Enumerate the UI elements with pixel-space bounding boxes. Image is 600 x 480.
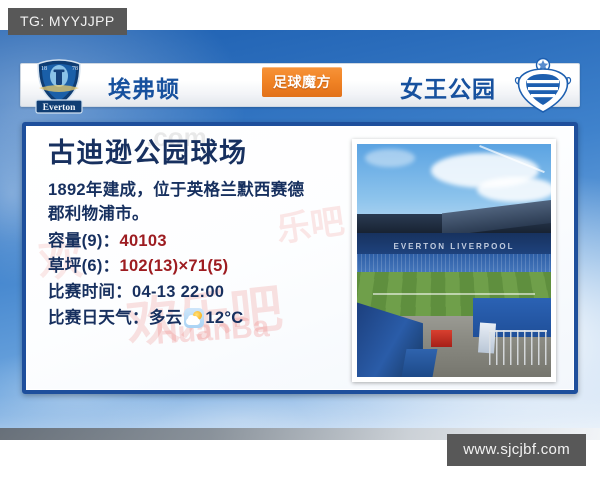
match-time-label: 比赛时间：	[48, 280, 132, 306]
stadium-photo: EVERTON LIVERPOOL	[357, 144, 551, 377]
pitch-row: 草坪(6)： 102(13)×71(5)	[48, 254, 338, 280]
match-time-row: 比赛时间： 04-13 22:00	[48, 280, 338, 306]
capacity-row: 容量(9)： 40103	[48, 229, 338, 255]
qpr-crest	[512, 56, 574, 118]
away-team-name: 女王公园	[400, 70, 496, 104]
team-header: 18 78 Everton 埃弗顿 足球魔方 女王公园	[20, 57, 580, 117]
screenshot-canvas: TG: MYYJJPP 18 78 Everton 埃弗顿 足球魔方 女王公园	[0, 0, 600, 480]
svg-text:Everton: Everton	[43, 103, 76, 113]
svg-text:78: 78	[72, 66, 78, 72]
match-time-value: 04-13 22:00	[132, 280, 224, 306]
stadium-info-text: 古迪逊公园球场 1892年建成，位于英格兰默西赛德郡利物浦市。 容量(9)： 4…	[48, 138, 338, 331]
weather-condition: 多云	[149, 306, 183, 332]
site-watermark-tag: www.sjcjbf.com	[447, 434, 586, 466]
partly-cloudy-icon	[184, 308, 204, 328]
pitch-label: 草坪(6)：	[48, 254, 119, 280]
everton-crest: 18 78 Everton	[28, 56, 90, 118]
stadium-description: 1892年建成，位于英格兰默西赛德郡利物浦市。	[48, 178, 320, 227]
weather-temperature: 12°C	[205, 306, 243, 332]
stadium-title: 古迪逊公园球场	[48, 138, 338, 169]
home-team-name: 埃弗顿	[108, 70, 180, 104]
stadium-photo-frame: EVERTON LIVERPOOL	[352, 139, 556, 382]
tg-tag: TG: MYYJJPP	[8, 8, 127, 35]
stadium-info-panel: 欢乐吧 HuanBa .com 乐吧 欢 古迪逊公园球场 1892年建成，位于英…	[22, 122, 578, 394]
center-badge[interactable]: 足球魔方	[262, 67, 342, 97]
pitch-value: 102(13)×71(5)	[119, 254, 228, 280]
svg-text:18: 18	[41, 66, 47, 72]
stand-lettering: EVERTON LIVERPOOL	[357, 238, 551, 254]
capacity-value: 40103	[119, 229, 166, 255]
capacity-label: 容量(9)：	[48, 229, 119, 255]
weather-label: 比赛日天气：	[48, 306, 149, 332]
weather-row: 比赛日天气： 多云 12°C	[48, 306, 338, 332]
center-badge-label: 足球魔方	[273, 72, 331, 92]
